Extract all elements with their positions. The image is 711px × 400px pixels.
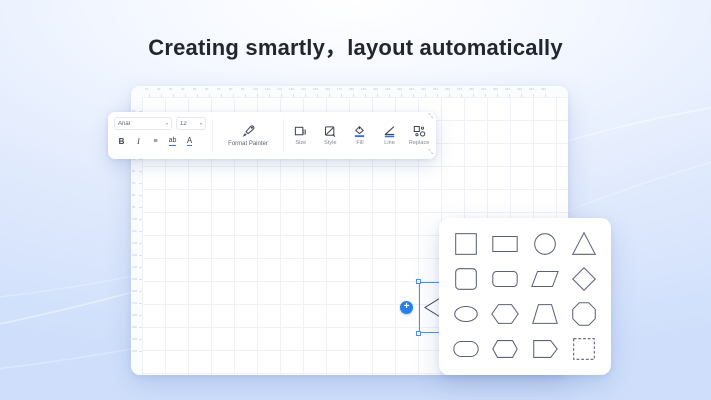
line-tool-button[interactable]: Line	[375, 125, 405, 146]
shape-circle-icon	[530, 229, 560, 259]
strikethrough-button[interactable]: ab	[167, 135, 178, 147]
font-family-value: Arial	[118, 121, 164, 127]
fill-tool-label: Fill	[356, 140, 363, 146]
ruler-top-tick: 220	[397, 87, 402, 91]
ruler-left-tick: 100	[132, 217, 137, 221]
shape-circle[interactable]	[526, 228, 564, 261]
ruler-left-tick: 80	[132, 193, 135, 197]
font-family-select[interactable]: Arial ▾	[114, 117, 172, 130]
ruler-top-tick: 140	[301, 87, 306, 91]
strikethrough-label: ab	[169, 137, 177, 146]
shape-square[interactable]	[447, 228, 485, 261]
ruler-top-tick: 340	[541, 87, 546, 91]
shape-pentagon-arrow-icon	[530, 334, 560, 364]
ruler-left-tick: 120	[132, 241, 137, 245]
ruler-top-tick: 180	[349, 87, 354, 91]
ruler-left-tick: 90	[132, 205, 135, 209]
ruler-top-tick: 170	[337, 87, 342, 91]
ruler-top-tick: 250	[433, 87, 438, 91]
shape-ellipse-icon	[451, 299, 481, 329]
size-icon	[294, 125, 307, 138]
fill-tool-button[interactable]: Fill	[345, 125, 375, 146]
ruler-left-tick: 190	[132, 325, 137, 329]
font-color-button[interactable]: A	[184, 135, 195, 147]
ruler-top-tick: 310	[505, 87, 510, 91]
shape-octagon-icon	[569, 299, 599, 329]
bold-button[interactable]: B	[116, 135, 127, 147]
font-color-label: A	[187, 137, 192, 146]
ruler-left-tick: 70	[132, 181, 135, 185]
ruler-top-tick: 320	[517, 87, 522, 91]
shape-dashed-square-icon	[569, 334, 599, 364]
format-painter-label: Format Painter	[228, 141, 268, 147]
shape-rectangle-icon	[490, 229, 520, 259]
size-tool-button[interactable]: Size	[286, 125, 316, 146]
style-tool-label: Style	[324, 140, 336, 146]
shape-pentagon-arrow[interactable]	[526, 332, 564, 365]
ruler-top-tick: 20	[157, 87, 160, 91]
ruler-top-tick: 190	[361, 87, 366, 91]
font-size-select[interactable]: 12 ▾	[176, 117, 206, 130]
shape-hexagon-flat-icon	[490, 334, 520, 364]
shape-parallelogram-icon	[530, 264, 560, 294]
ruler-top-tick: 280	[469, 87, 474, 91]
ruler-top-tick: 330	[529, 87, 534, 91]
ruler-top-tick: 10	[145, 87, 148, 91]
expand-icon[interactable]: ⤡	[428, 150, 433, 157]
ruler-top-tick: 260	[445, 87, 450, 91]
ruler-top-tick: 160	[325, 87, 330, 91]
line-icon	[383, 125, 396, 138]
resize-handle-nw[interactable]	[416, 279, 421, 284]
add-shape-west-button[interactable]: +	[400, 301, 413, 314]
screenshot-stage: Creating smartly，layout automatically 10…	[0, 0, 711, 400]
shape-square-icon	[451, 229, 481, 259]
shapes-palette[interactable]	[439, 218, 611, 375]
shape-trapezoid[interactable]	[526, 298, 564, 331]
ruler-left-tick: 60	[132, 169, 135, 173]
format-toolbar: Arial ▾ 12 ▾ B I ≡ ab A	[108, 112, 436, 159]
ruler-left-tick: 210	[132, 349, 137, 353]
align-button[interactable]: ≡	[150, 135, 161, 147]
ruler-top-tick: 30	[169, 87, 172, 91]
shape-parallelogram[interactable]	[526, 263, 564, 296]
shape-rounded-square-icon	[451, 264, 481, 294]
toolbar-shape-tools: Size Style Fill	[284, 112, 436, 159]
style-icon	[324, 125, 337, 138]
font-size-value: 12	[180, 121, 198, 127]
ruler-top-tick: 100	[253, 87, 258, 91]
chevron-down-icon: ▾	[166, 121, 168, 126]
shape-triangle[interactable]	[566, 228, 604, 261]
shape-hexagon[interactable]	[487, 298, 525, 331]
ruler-top-tick: 130	[289, 87, 294, 91]
format-painter-button[interactable]: Format Painter	[213, 112, 283, 159]
ruler-top-tick: 300	[493, 87, 498, 91]
ruler-left-tick: 160	[132, 289, 137, 293]
italic-button[interactable]: I	[133, 135, 144, 147]
ruler-top-tick: 200	[373, 87, 378, 91]
shape-diamond[interactable]	[566, 263, 604, 296]
fill-icon	[353, 125, 366, 138]
ruler-top-tick: 120	[277, 87, 282, 91]
pin-icon[interactable]: ⤡	[428, 114, 433, 121]
ruler-left-tick: 200	[132, 337, 137, 341]
shape-rounded-rectangle[interactable]	[487, 263, 525, 296]
font-controls-row: Arial ▾ 12 ▾	[114, 117, 207, 130]
replace-tool-label: Replace	[409, 140, 429, 146]
shape-rounded-rectangle-icon	[490, 264, 520, 294]
shape-diamond-icon	[569, 264, 599, 294]
ruler-top-tick: 210	[385, 87, 390, 91]
ruler-top-tick: 90	[241, 87, 244, 91]
replace-icon	[413, 125, 426, 138]
shape-hexagon-flat[interactable]	[487, 332, 525, 365]
ruler-top-tick: 270	[457, 87, 462, 91]
ruler-top-tick: 290	[481, 87, 486, 91]
shape-rectangle[interactable]	[487, 228, 525, 261]
ruler-top-tick: 240	[421, 87, 426, 91]
ruler-left-tick: 180	[132, 313, 137, 317]
ruler-top-tick: 150	[313, 87, 318, 91]
ruler-top-tick: 50	[193, 87, 196, 91]
toolbar-text-group: Arial ▾ 12 ▾ B I ≡ ab A	[108, 112, 212, 159]
size-tool-label: Size	[295, 140, 306, 146]
shape-hexagon-icon	[490, 299, 520, 329]
ruler-left-tick: 170	[132, 301, 137, 305]
ruler-left-tick: 130	[132, 253, 137, 257]
shape-trapezoid-icon	[530, 299, 560, 329]
replace-tool-button[interactable]: Replace	[404, 125, 434, 146]
format-painter-icon	[241, 124, 256, 139]
style-tool-button[interactable]: Style	[316, 125, 346, 146]
ruler-top-tick: 40	[181, 87, 184, 91]
format-buttons-row: B I ≡ ab A	[114, 135, 207, 147]
shape-dashed-square[interactable]	[566, 332, 604, 365]
shape-ellipse[interactable]	[447, 298, 485, 331]
shape-triangle-icon	[569, 229, 599, 259]
shape-stadium[interactable]	[447, 332, 485, 365]
shape-rounded-square[interactable]	[447, 263, 485, 296]
ruler-left-tick: 150	[132, 277, 137, 281]
ruler-top-tick: 70	[217, 87, 220, 91]
shape-octagon[interactable]	[566, 298, 604, 331]
resize-handle-sw[interactable]	[416, 331, 421, 336]
ruler-left-tick: 110	[132, 229, 137, 233]
page-title: Creating smartly，layout automatically	[0, 30, 711, 62]
ruler-top-tick: 60	[205, 87, 208, 91]
ruler-top-tick: 110	[265, 87, 270, 91]
ruler-top-tick: 80	[229, 87, 232, 91]
ruler-top-tick: 230	[409, 87, 414, 91]
ruler-left-tick: 140	[132, 265, 137, 269]
shape-stadium-icon	[451, 334, 481, 364]
chevron-down-icon: ▾	[200, 121, 202, 126]
line-tool-label: Line	[384, 140, 395, 146]
